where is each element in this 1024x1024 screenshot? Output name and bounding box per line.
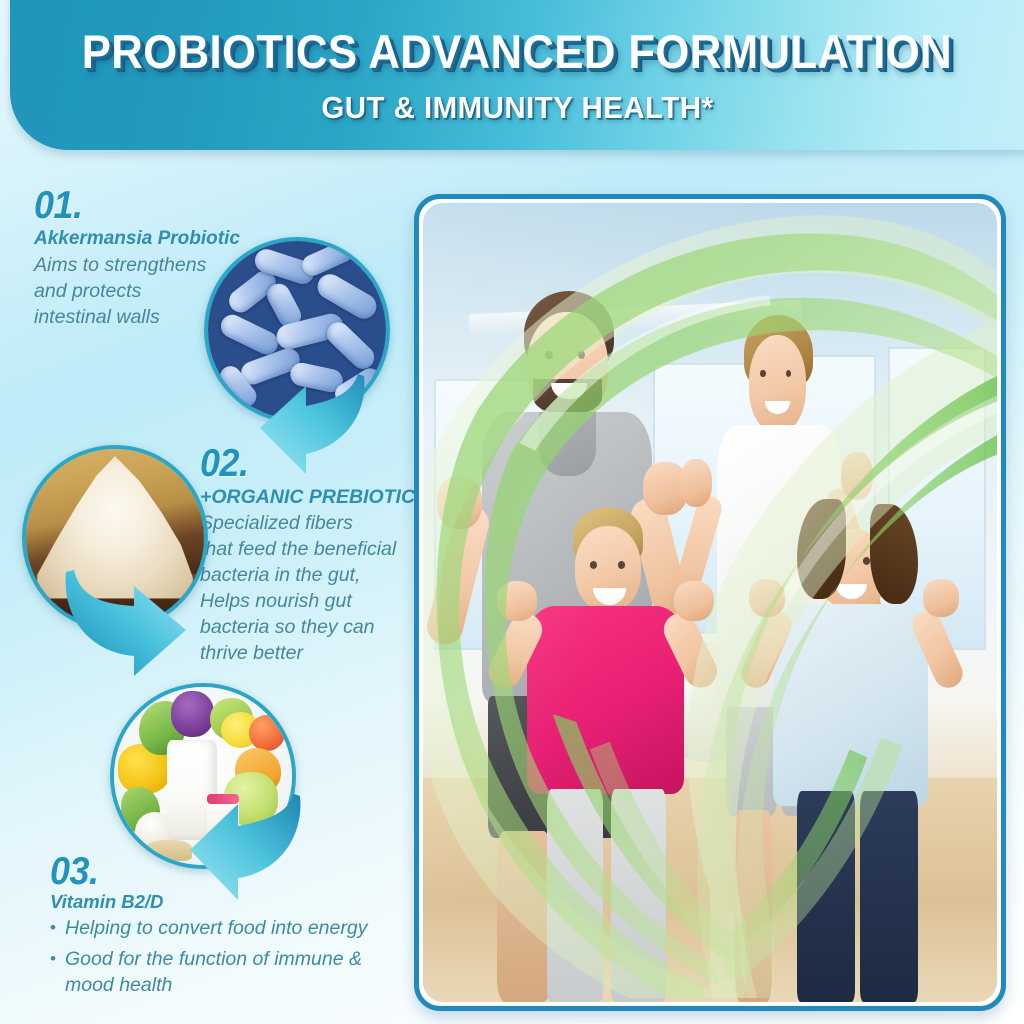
page-title: PROBIOTICS ADVANCED FORMULATION: [82, 28, 952, 77]
step-01-arrow-icon: [232, 370, 372, 480]
photo-stage: [423, 203, 997, 1002]
step-01-body-line: and protects: [34, 279, 206, 305]
step-02-body-line: that feed the beneficial: [200, 537, 396, 563]
step-02-title: +ORGANIC PREBIOTICS: [200, 486, 428, 509]
infographic-page: PROBIOTICS ADVANCED FORMULATION GUT & IM…: [0, 0, 1024, 1024]
step-02-body-line: bacteria in the gut,: [200, 563, 396, 589]
step-01-body: Aims to strengthens and protects intesti…: [34, 253, 206, 331]
header-text-group: PROBIOTICS ADVANCED FORMULATION GUT & IM…: [10, 0, 1024, 150]
list-item: • Helping to convert food into energy: [50, 916, 367, 942]
bullet-text-line: Good for the function of immune &: [65, 947, 362, 973]
header-banner: PROBIOTICS ADVANCED FORMULATION GUT & IM…: [10, 0, 1024, 150]
step-03-arrow-icon: [158, 790, 308, 902]
bullet-dot-icon: •: [50, 916, 65, 942]
happy-family-flexing-muscles-photo: [414, 194, 1006, 1011]
step-02-body-line: bacteria so they can: [200, 615, 396, 641]
step-01-body-line: Aims to strengthens: [34, 253, 206, 279]
step-01-body-line: intestinal walls: [34, 305, 206, 331]
step-02-body: Specialized fibers that feed the benefic…: [200, 511, 396, 667]
photo-gloss-overlay: [423, 203, 997, 1002]
step-03-bullets: • Helping to convert food into energy • …: [50, 916, 367, 1004]
bullet-text-line: mood health: [65, 973, 362, 999]
page-subtitle: GUT & IMMUNITY HEALTH*: [321, 90, 713, 126]
step-02-body-line: Helps nourish gut: [200, 589, 396, 615]
bullet-text-line: Helping to convert food into energy: [65, 916, 367, 942]
bullet-dot-icon: •: [50, 947, 65, 999]
step-02-body-line: thrive better: [200, 641, 396, 667]
step-03-index: 03.: [50, 850, 99, 894]
step-03-title: Vitamin B2/D: [50, 891, 163, 913]
step-02-body-line: Specialized fibers: [200, 511, 396, 537]
step-02-arrow-icon: [60, 560, 220, 676]
step-01-index: 01.: [34, 184, 83, 228]
list-item: • Good for the function of immune & mood…: [50, 947, 367, 999]
